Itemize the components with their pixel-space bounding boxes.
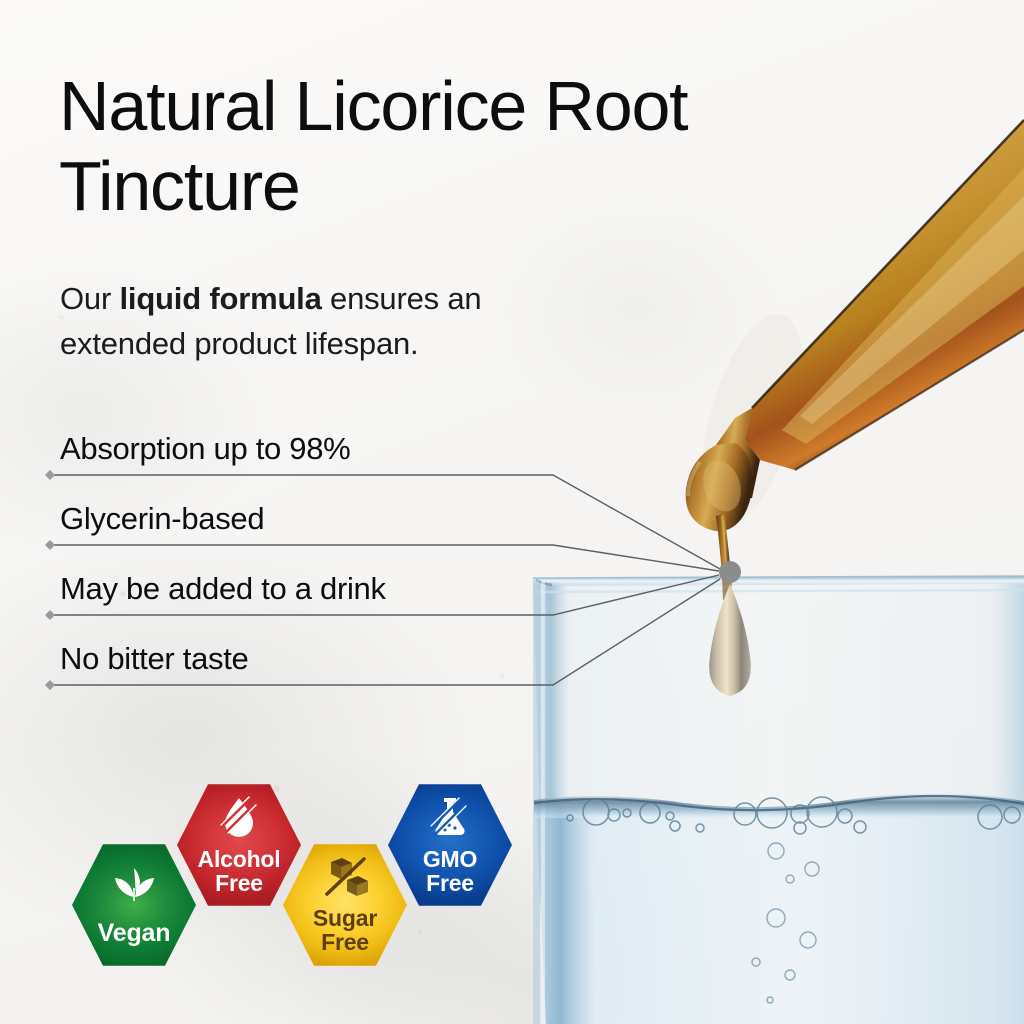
badge-label-line2: Free <box>426 870 474 896</box>
badge-label-line1: GMO <box>423 846 477 872</box>
leader-line-marker <box>45 470 55 690</box>
badge-label-line1: Sugar <box>313 905 377 931</box>
no-alcohol-droplet-icon <box>216 795 262 844</box>
badge-label-line2: Free <box>215 870 263 896</box>
badge-label-line2: Free <box>321 929 369 955</box>
no-gmo-flask-icon <box>427 795 473 844</box>
convergence-dot <box>719 561 741 583</box>
no-sugar-cubes-icon <box>321 856 369 903</box>
badge-label-line1: Alcohol <box>198 846 281 872</box>
badge-label: Vegan <box>98 920 171 946</box>
infographic-canvas: Natural Licorice Root Tincture Our liqui… <box>0 0 1024 1024</box>
leaf-icon <box>110 865 158 916</box>
